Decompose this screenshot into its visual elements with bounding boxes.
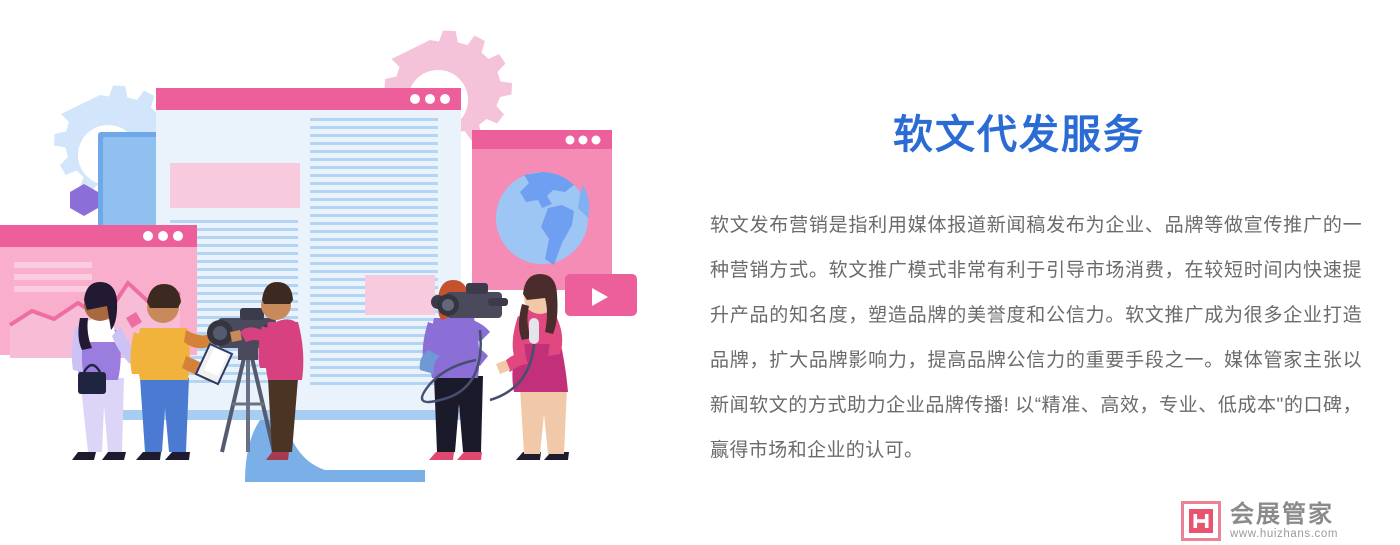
huizhans-logo-mark-icon [1181, 501, 1221, 541]
play-button[interactable] [565, 274, 637, 316]
logo-url: www.huizhans.com [1230, 527, 1338, 541]
logo-brand-name: 会展管家 [1230, 502, 1338, 527]
body-paragraph: 软文发布营销是指利用媒体报道新闻稿发布为企业、品牌等做宣传推广的一种营销方式。软… [710, 203, 1362, 473]
promo-banner-page: 软文代发服务 软文发布营销是指利用媒体报道新闻稿发布为企业、品牌等做宣传推广的一… [0, 0, 1400, 545]
globe-window [472, 130, 612, 290]
news-media-illustration [0, 0, 680, 500]
brand-logo[interactable]: 会展管家 www.huizhans.com [1181, 500, 1371, 542]
content-column: 软文代发服务 软文发布营销是指利用媒体报道新闻稿发布为企业、品牌等做宣传推广的一… [710, 0, 1370, 545]
page-title: 软文代发服务 [893, 111, 1145, 159]
logo-text-group: 会展管家 www.huizhans.com [1230, 501, 1338, 541]
